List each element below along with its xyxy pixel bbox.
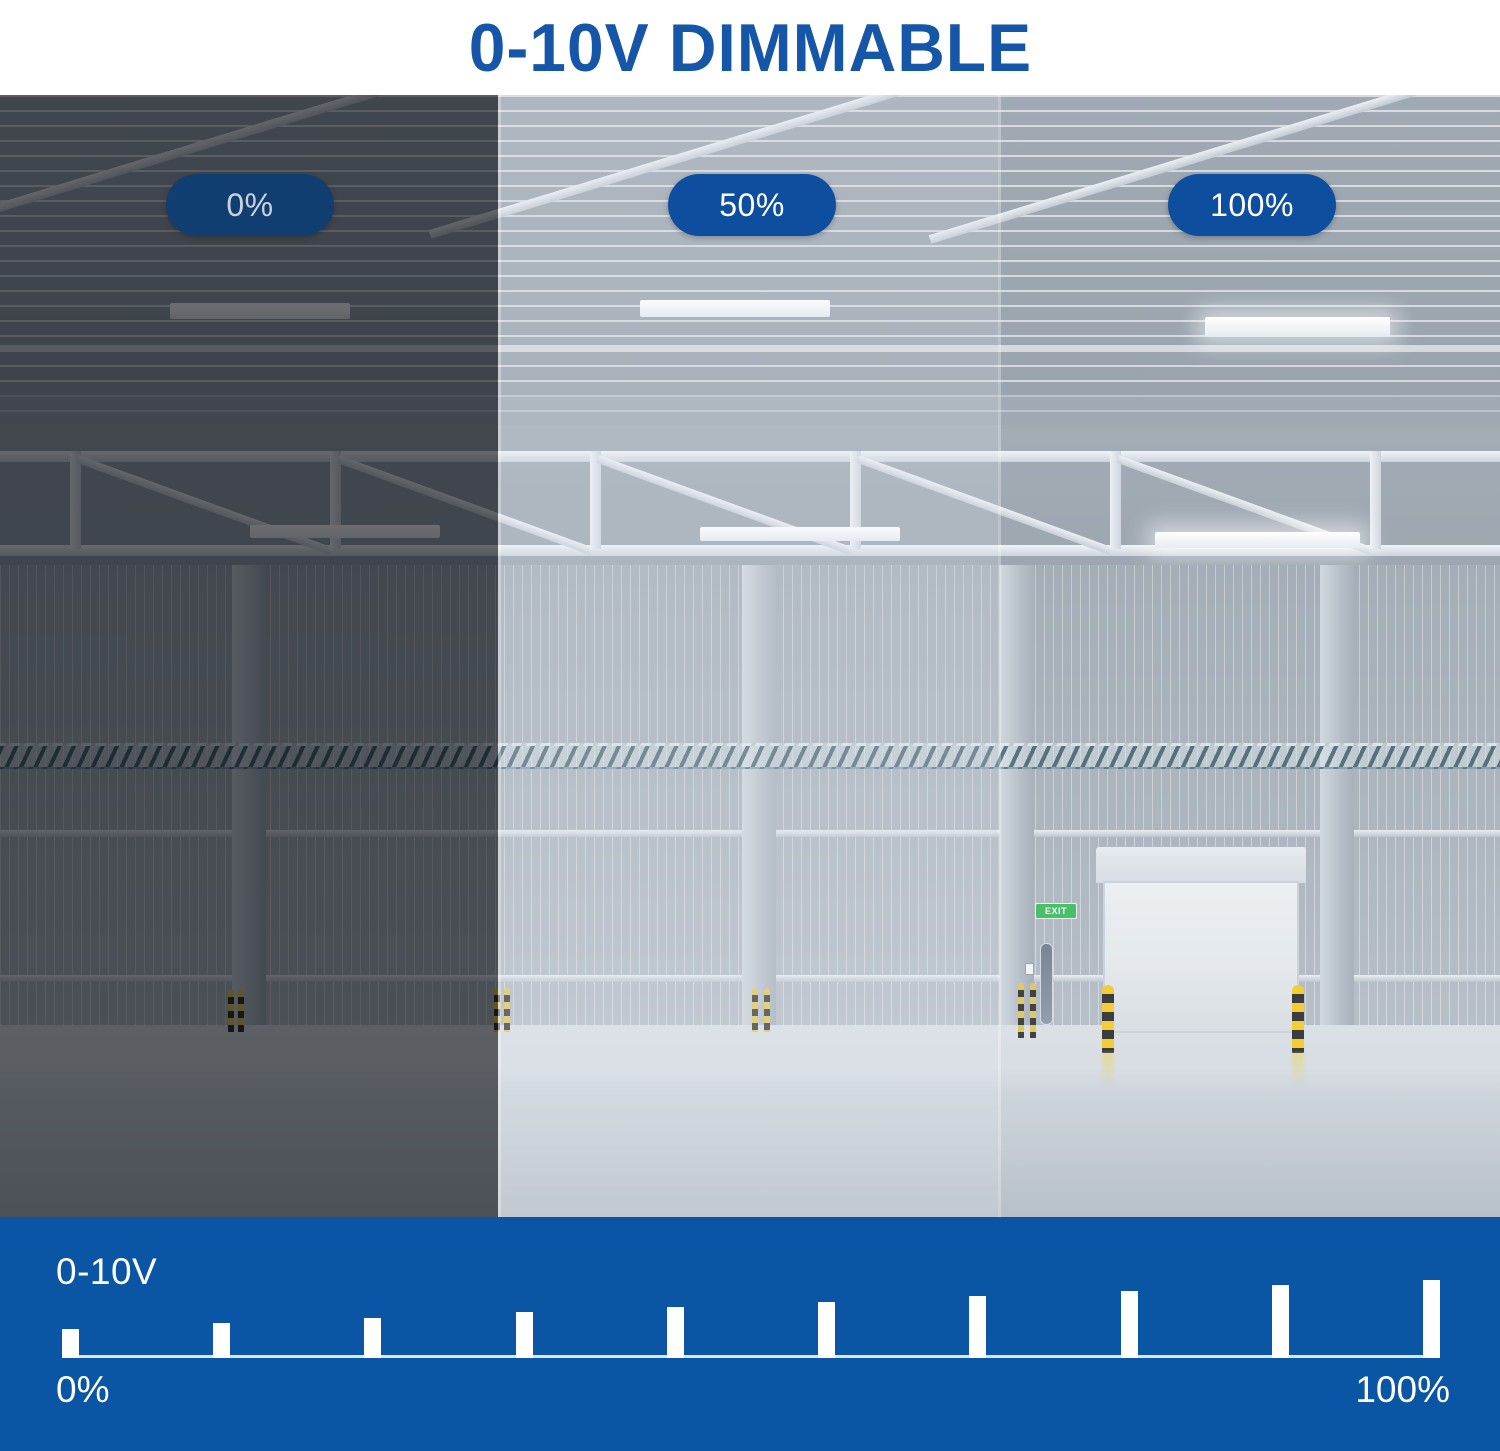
scale-tick [213, 1323, 230, 1358]
dimmable-product-graphic: 0-10V DIMMABLE [0, 0, 1500, 1451]
scale-tick [62, 1329, 79, 1358]
roof-purlin [0, 345, 1500, 350]
floor-reflection [0, 1025, 1500, 1095]
door-header [1096, 847, 1306, 883]
exit-sign-label: EXIT [1045, 906, 1067, 916]
bollard [764, 988, 770, 1032]
zone-divider [998, 95, 1001, 1217]
wall-column [1000, 565, 1034, 1025]
scale-tick [1121, 1291, 1138, 1358]
bollard [228, 990, 234, 1032]
scale-min-label: 0% [56, 1369, 109, 1411]
bollard [1102, 985, 1114, 1053]
truss-post [590, 451, 601, 549]
title-bar: 0-10V DIMMABLE [0, 0, 1500, 95]
dimming-scale [62, 1280, 1440, 1358]
light-fixture [1155, 532, 1360, 548]
scale-tick [1272, 1285, 1289, 1358]
bollard [238, 990, 244, 1032]
badge-50-percent-label: 50% [719, 187, 785, 224]
roof-deck [0, 95, 1500, 425]
roll-up-door [1103, 881, 1299, 1033]
scale-max-label: 100% [1355, 1369, 1450, 1411]
bollard [504, 988, 510, 1032]
light-fixture [170, 303, 350, 319]
light-fixture [250, 525, 440, 538]
light-fixture [640, 300, 830, 317]
light-fixture [1205, 317, 1390, 337]
scale-tick [364, 1318, 381, 1358]
scale-tick [818, 1302, 835, 1358]
zone-divider [498, 95, 501, 1217]
bollard [752, 988, 758, 1032]
scale-tick [667, 1307, 684, 1358]
bollard [1030, 983, 1036, 1038]
badge-0-percent: 0% [166, 174, 334, 236]
scale-tick [1423, 1280, 1440, 1358]
exit-sign-icon: EXIT [1035, 903, 1077, 919]
wall-column [1320, 565, 1354, 1025]
badge-50-percent: 50% [668, 174, 836, 236]
bollard [1018, 983, 1024, 1038]
overhead-pipe-rack [0, 743, 1500, 769]
warehouse-photo: EXIT [0, 95, 1500, 1217]
control-panel-box [1025, 963, 1034, 975]
bollard-reflection [1102, 1053, 1114, 1087]
scale-tick [969, 1296, 986, 1358]
scale-tick [516, 1312, 533, 1358]
wall-column [742, 565, 776, 1025]
truss-post [70, 451, 81, 549]
scale-baseline [62, 1355, 1440, 1358]
light-fixture [700, 527, 900, 541]
badge-100-percent: 100% [1168, 174, 1336, 236]
wall-column [232, 565, 266, 1025]
bollard [1292, 985, 1304, 1053]
warehouse-scene: EXIT [0, 95, 1500, 1217]
badge-0-percent-label: 0% [226, 187, 273, 224]
badge-100-percent-label: 100% [1210, 187, 1294, 224]
truss-post [1110, 451, 1121, 549]
door-window-slot [1040, 943, 1053, 1025]
page-title: 0-10V DIMMABLE [468, 14, 1031, 82]
truss-post [1370, 451, 1381, 549]
bollard-reflection [1292, 1053, 1304, 1087]
truss-chord [0, 451, 1500, 462]
